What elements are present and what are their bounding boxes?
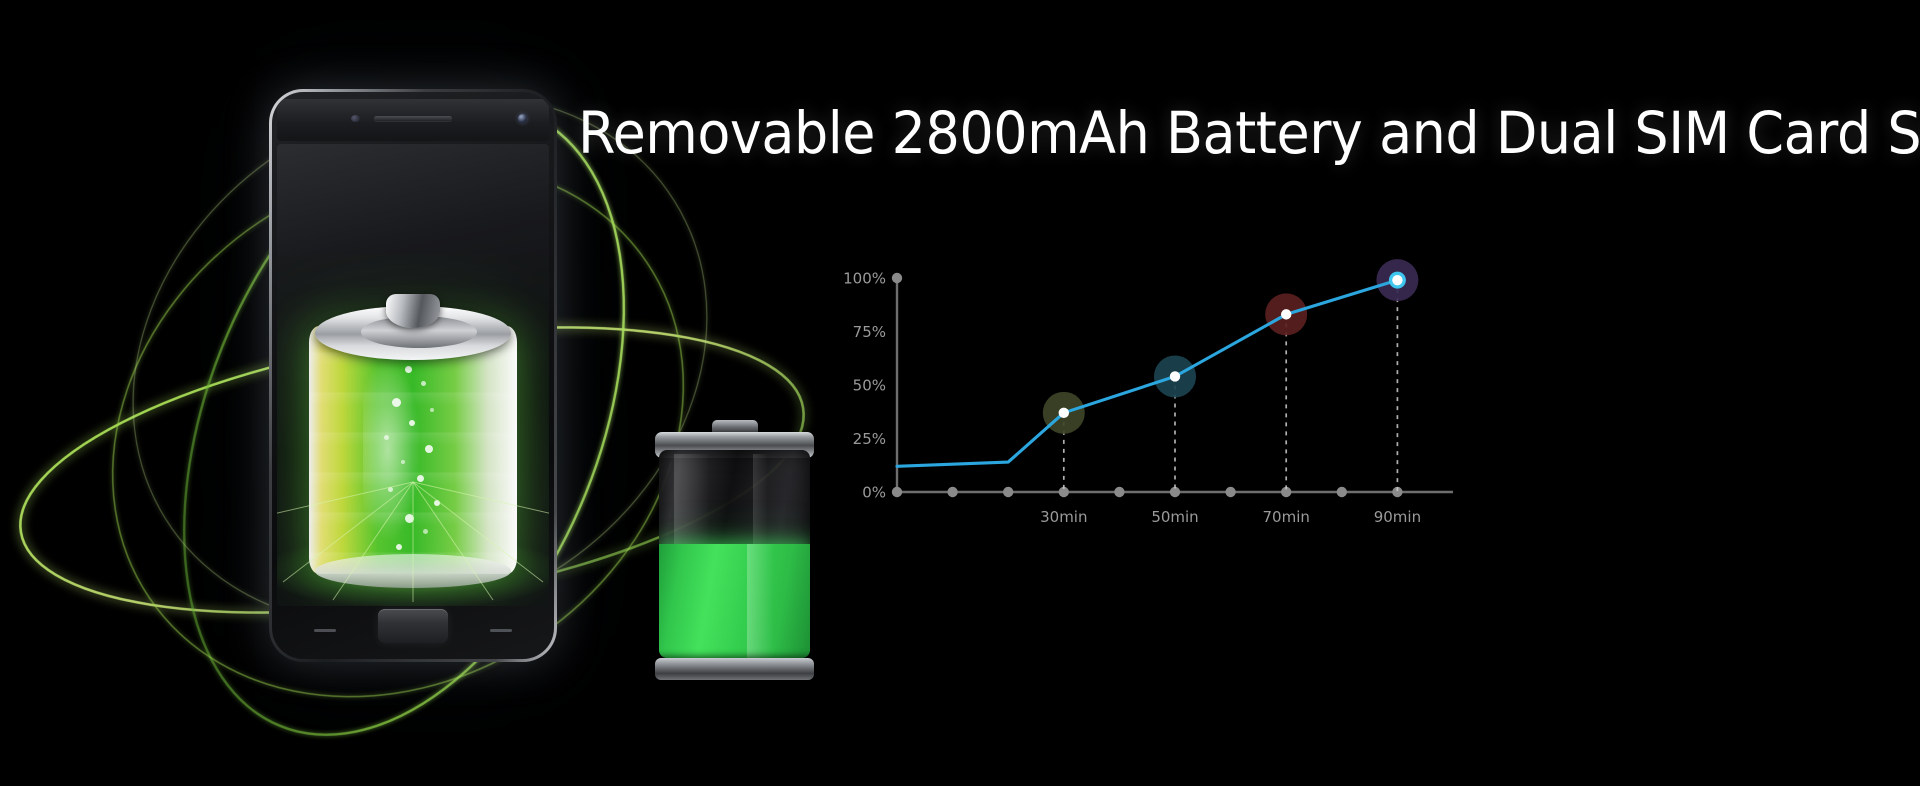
x-axis-tick-dot bbox=[1225, 487, 1235, 497]
x-axis-tick-dot bbox=[1003, 487, 1013, 497]
battery-charge-fill bbox=[659, 544, 810, 658]
y-axis-tick-label: 75% bbox=[853, 323, 886, 341]
x-axis-tick-dot bbox=[892, 487, 902, 497]
proximity-sensor-icon bbox=[518, 114, 527, 123]
home-button[interactable] bbox=[378, 609, 448, 643]
promo-stage: Removable 2800mAh Battery and Dual SIM C… bbox=[0, 0, 1920, 786]
charging-battery-3d-graphic bbox=[309, 292, 517, 592]
phone-top-band bbox=[277, 99, 549, 141]
x-axis-tick-dot bbox=[947, 487, 957, 497]
battery-top-cap bbox=[315, 306, 511, 360]
y-axis-tick-label: 25% bbox=[853, 430, 886, 448]
x-axis-tick-label: 90min bbox=[1374, 508, 1421, 526]
data-point-marker bbox=[1059, 408, 1069, 418]
x-axis-tick-dot bbox=[1114, 487, 1124, 497]
y-axis-tick-label: 100% bbox=[843, 270, 886, 288]
earpiece-speaker-icon bbox=[374, 116, 452, 121]
smartphone-device bbox=[269, 89, 557, 662]
page-title: Removable 2800mAh Battery and Dual SIM C… bbox=[578, 104, 1815, 162]
charge-line-series bbox=[897, 280, 1397, 466]
battery-shell bbox=[659, 450, 810, 658]
front-camera-icon bbox=[351, 115, 360, 122]
x-axis-tick-label: 70min bbox=[1263, 508, 1310, 526]
removable-battery-graphic bbox=[651, 420, 818, 680]
battery-bottom-rim bbox=[655, 658, 814, 680]
phone-screen bbox=[277, 144, 549, 606]
x-axis-tick-dot bbox=[1337, 487, 1347, 497]
charge-time-line-chart: 0%25%50%75%100%30min50min70min90min bbox=[845, 270, 1465, 580]
phone-chassis bbox=[272, 92, 554, 659]
data-point-marker bbox=[1392, 275, 1402, 285]
x-axis-tick-label: 50min bbox=[1151, 508, 1198, 526]
battery-terminal-nub bbox=[386, 294, 440, 328]
battery-starburst bbox=[277, 452, 549, 602]
charge-time-chart: 0%25%50%75%100%30min50min70min90min bbox=[845, 270, 1465, 580]
y-axis-tick-label: 50% bbox=[853, 377, 886, 395]
data-point-marker bbox=[1281, 309, 1291, 319]
capacitive-key-right[interactable] bbox=[490, 629, 512, 632]
x-axis-tick-label: 30min bbox=[1040, 508, 1087, 526]
y-axis-tick-label: 0% bbox=[862, 484, 886, 502]
y-axis-cap-dot bbox=[892, 273, 902, 283]
data-point-marker bbox=[1170, 371, 1180, 381]
capacitive-key-left[interactable] bbox=[314, 629, 336, 632]
